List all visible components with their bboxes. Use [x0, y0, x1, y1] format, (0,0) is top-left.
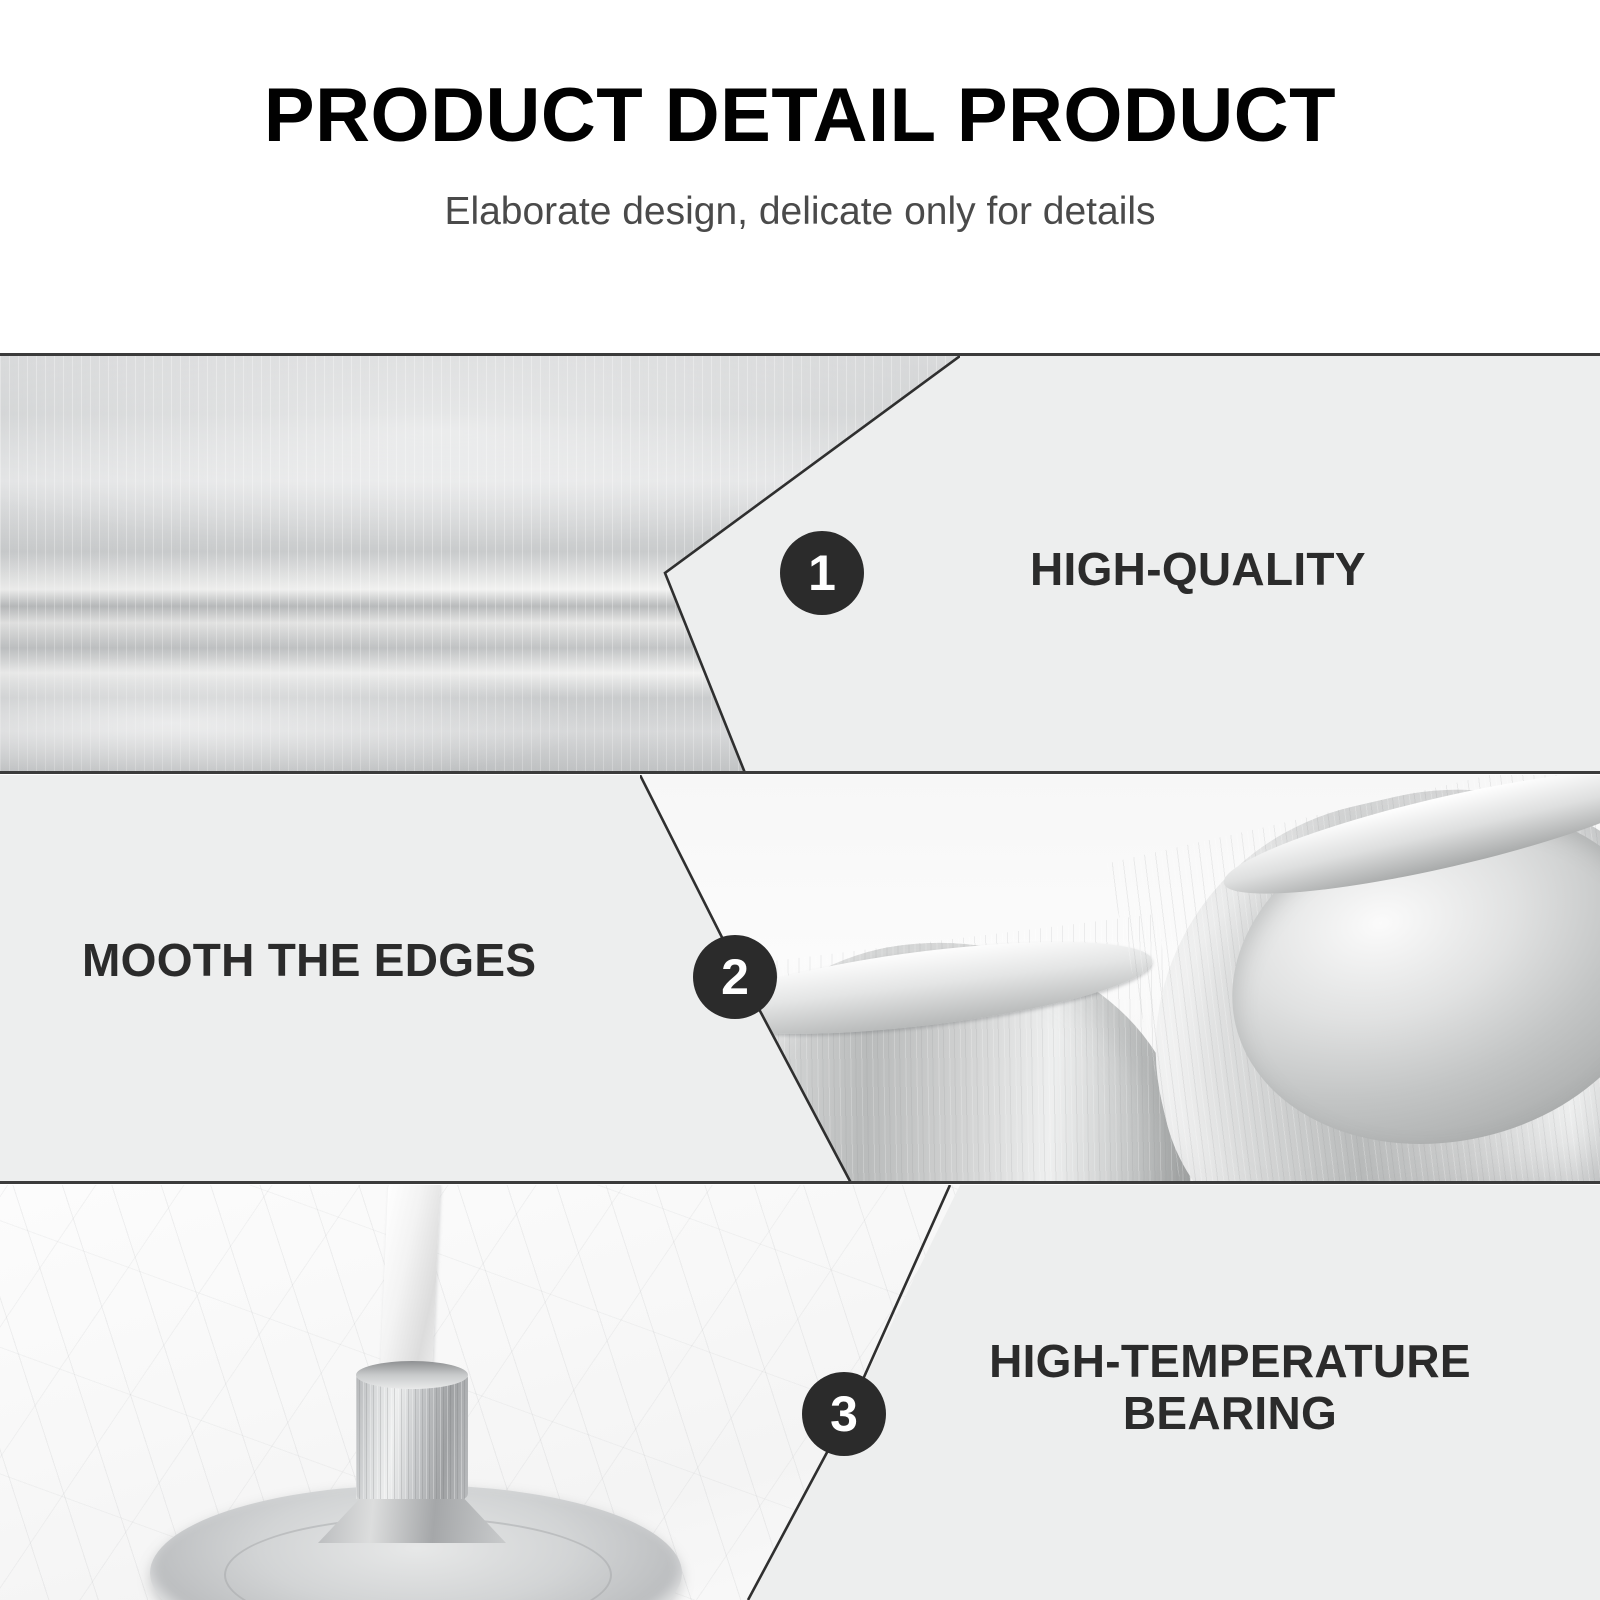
feature-badge-3-number: 3	[830, 1389, 858, 1439]
feature-badge-2: 2	[693, 935, 777, 1019]
feature-label-1-text: HIGH-QUALITY	[1030, 543, 1366, 595]
feature-label-3-line-1: HIGH-TEMPERATURE	[930, 1335, 1530, 1387]
candle-wick	[379, 1185, 440, 1388]
divider-row2-row3	[0, 1181, 1600, 1184]
page-title: PRODUCT DETAIL PRODUCT	[264, 78, 1336, 154]
divider-header-row1	[0, 353, 1600, 356]
feature-badge-1-number: 1	[808, 548, 836, 598]
divider-row1-row2	[0, 771, 1600, 774]
feature-label-2: MOOTH THE EDGES	[82, 934, 536, 986]
header-banner: PRODUCT DETAIL PRODUCT Elaborate design,…	[0, 0, 1600, 356]
sustainer-tube-opening	[356, 1361, 468, 1389]
page-subtitle: Elaborate design, delicate only for deta…	[444, 190, 1155, 234]
feature-label-1: HIGH-QUALITY	[1030, 543, 1366, 595]
product-detail-infographic: PRODUCT DETAIL PRODUCT Elaborate design,…	[0, 0, 1600, 1600]
feature-badge-3: 3	[802, 1372, 886, 1456]
feature-label-3: HIGH-TEMPERATURE BEARING	[930, 1335, 1530, 1440]
feature-badge-2-number: 2	[721, 952, 749, 1002]
feature-label-2-text: MOOTH THE EDGES	[82, 934, 536, 986]
feature-badge-1: 1	[780, 531, 864, 615]
feature-label-3-line-2: BEARING	[930, 1387, 1530, 1439]
sustainer-tube	[356, 1371, 468, 1499]
